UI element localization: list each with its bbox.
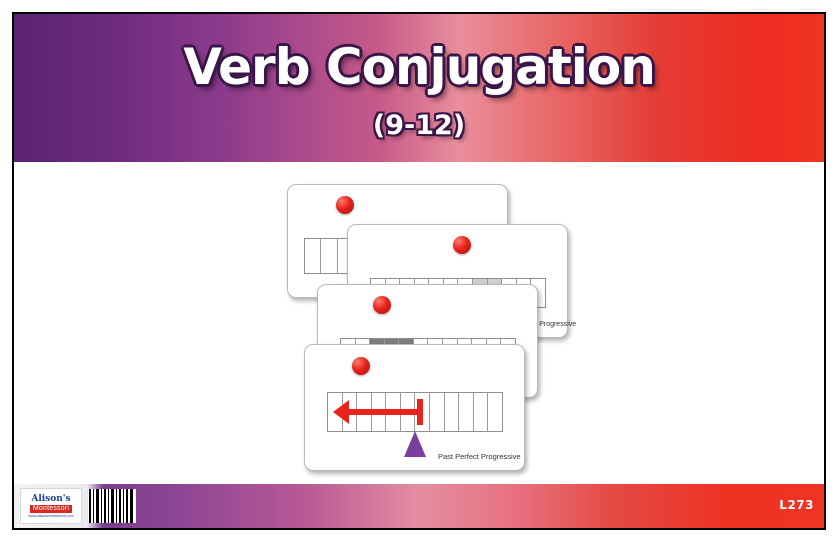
poster-card: Verb Conjugation (9-12): [12, 12, 826, 530]
material-card-stack: Present Perfect Progressive: [14, 162, 824, 484]
grid-cell: [474, 393, 489, 431]
grid-cell: [305, 239, 321, 273]
product-code: L273: [779, 498, 814, 512]
grid-cell: [430, 393, 445, 431]
brand-website: www.alisonsmontessori.com: [28, 514, 73, 518]
grid-cell: [445, 393, 460, 431]
poster-body: Present Perfect Progressive: [14, 162, 824, 484]
brand-name-line1: Alison's: [31, 495, 70, 504]
brand-name-line2: Montessori: [30, 505, 72, 513]
header-banner: Verb Conjugation (9-12): [14, 14, 824, 162]
red-dot-icon: [373, 296, 391, 314]
red-dot-icon: [336, 196, 354, 214]
page-title: Verb Conjugation: [14, 38, 824, 96]
brand-logo: Alison's Montessori www.alisonsmontessor…: [20, 488, 82, 524]
red-dot-icon: [453, 236, 471, 254]
grid-cell: [459, 393, 474, 431]
purple-triangle-icon: [404, 431, 426, 457]
red-dot-icon: [352, 357, 370, 375]
card-4-caption: Past Perfect Progressive: [438, 452, 521, 461]
material-card-4[interactable]: Past Perfect Progressive: [304, 344, 525, 471]
footer-strip: Alison's Montessori www.alisonsmontessor…: [14, 484, 824, 528]
past-arrow-icon: [335, 397, 431, 427]
poster-page: Verb Conjugation (9-12): [0, 0, 840, 544]
page-subtitle: (9-12): [14, 110, 824, 141]
barcode: [88, 489, 136, 523]
grid-cell: [488, 393, 502, 431]
grid-cell: [321, 239, 337, 273]
